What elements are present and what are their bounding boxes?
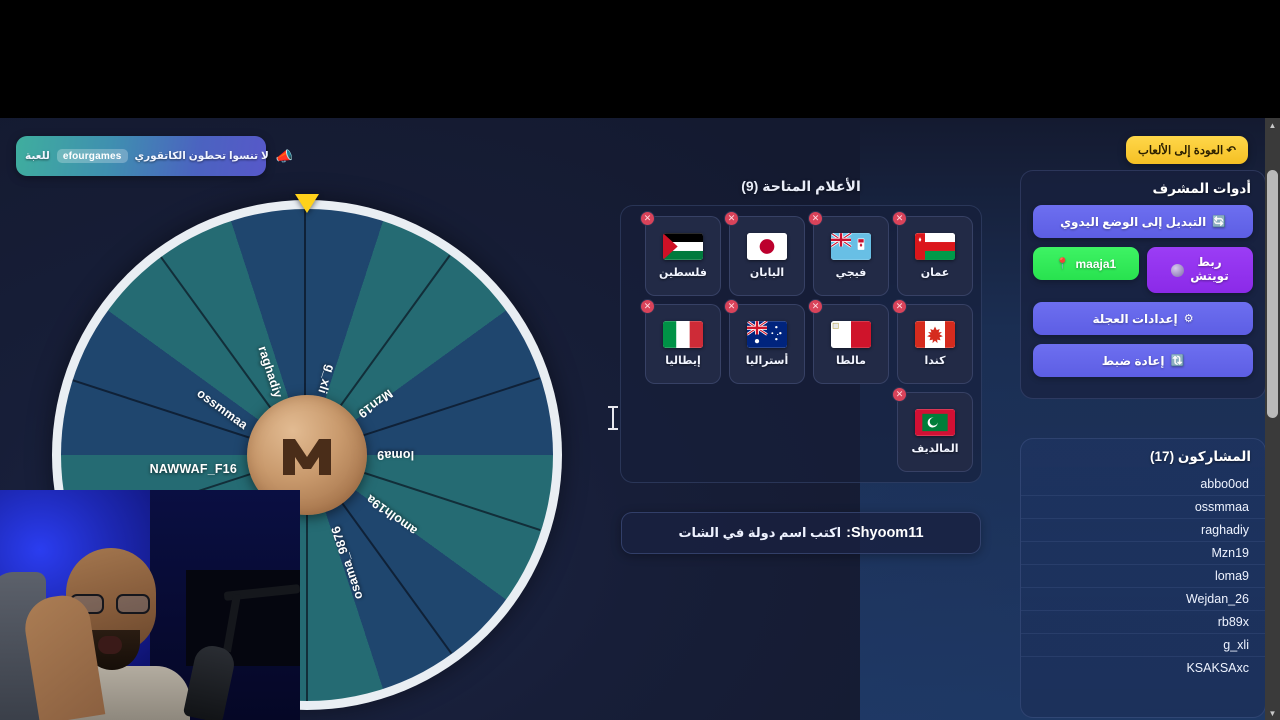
twitch-link-button[interactable]: ربط تويتش <box>1147 247 1253 293</box>
participant-row[interactable]: ossmmaa <box>1021 495 1265 518</box>
wheel-segment-label: g_xli <box>315 363 337 395</box>
flag-name-label: اليابان <box>750 266 784 279</box>
participants-panel: المشاركون (17) abbo0odossmmaaraghadiyMzn… <box>1020 438 1266 718</box>
flag-name-label: المالديف <box>911 442 958 455</box>
pin-icon: 📍 <box>1056 257 1070 270</box>
close-icon[interactable]: ✕ <box>892 299 907 314</box>
wheel-segment-label: Mzn19 <box>355 386 395 420</box>
browser-scrollbar[interactable]: ▲ ▼ <box>1265 118 1280 720</box>
prompt-username: Shyoom11: <box>846 525 923 541</box>
participant-row[interactable]: Wejdan_26 <box>1021 587 1265 610</box>
manual-mode-button[interactable]: 🔄 التبديل إلى الوضع اليدوي <box>1033 205 1253 238</box>
webcam-streamer-mouth <box>98 636 122 654</box>
back-to-games-button[interactable]: ↶ العودة إلى الألعاب <box>1126 136 1248 164</box>
account-button[interactable]: maaja1 📍 <box>1033 247 1139 280</box>
flags-grid: ✕عمان✕فيجي✕اليابان✕فلسطين✕كندا✕مالطا✕أست… <box>620 205 982 483</box>
announcement-suffix: للعبة <box>25 150 50 162</box>
flag-card[interactable]: ✕فلسطين <box>645 216 721 296</box>
wheel-segment-label: NAWWAF_F16 <box>150 462 237 476</box>
flags-title: الأعلام المتاحة (9) <box>620 178 982 195</box>
announcement-banner: 📣 لا تنسوا تحطون الكاتقوري efourgames لل… <box>16 136 266 176</box>
twitch-label-line1: ربط <box>1197 256 1221 270</box>
available-flags-section: الأعلام المتاحة (9) ✕عمان✕فيجي✕اليابان✕ف… <box>620 178 982 483</box>
flag-image <box>663 321 703 348</box>
participant-row[interactable]: Mzn19 <box>1021 541 1265 564</box>
flag-image <box>915 321 955 348</box>
flag-image <box>831 321 871 348</box>
reset-button[interactable]: 🔃 إعادة ضبط <box>1033 344 1253 377</box>
refresh-icon: 🔃 <box>1171 354 1185 367</box>
flag-image <box>663 233 703 260</box>
account-label: maaja1 <box>1076 257 1117 271</box>
flag-name-label: كندا <box>925 354 946 367</box>
flag-card[interactable]: ✕المالديف <box>897 392 973 472</box>
text-cursor-icon <box>608 406 618 430</box>
flag-image <box>831 233 871 260</box>
close-icon[interactable]: ✕ <box>892 387 907 402</box>
twitch-label-line2: تويتش <box>1190 270 1228 284</box>
manual-mode-label: التبديل إلى الوضع اليدوي <box>1060 215 1206 229</box>
prompt-instruction: اكتب اسم دولة في الشات <box>678 525 841 541</box>
moderator-tools-title: أدوات المشرف <box>1021 171 1265 205</box>
megaphone-icon: 📣 <box>276 149 293 163</box>
flag-name-label: فلسطين <box>659 266 707 279</box>
flag-image <box>747 321 787 348</box>
participant-row[interactable]: rb89x <box>1021 610 1265 633</box>
letterbox-top <box>0 0 1280 118</box>
participants-title: المشاركون (17) <box>1021 439 1265 473</box>
participant-row[interactable]: raghadiy <box>1021 518 1265 541</box>
wheel-segment-label: amolh19a <box>364 492 420 538</box>
flag-name-label: مالطا <box>836 354 866 367</box>
flag-name-label: إيطاليا <box>665 354 701 367</box>
m-logo-icon <box>271 419 343 491</box>
back-to-games-label: العودة إلى الألعاب <box>1138 145 1223 157</box>
participant-row[interactable]: g_xli <box>1021 633 1265 656</box>
flag-image <box>915 233 955 260</box>
participant-row[interactable]: loma9 <box>1021 564 1265 587</box>
flag-card[interactable]: ✕عمان <box>897 216 973 296</box>
scrollbar-thumb[interactable] <box>1267 170 1278 418</box>
wheel-segment-label: loma9 <box>377 448 414 462</box>
announcement-category-chip: efourgames <box>57 149 128 163</box>
flag-card[interactable]: ✕اليابان <box>729 216 805 296</box>
gear-icon: ⚙ <box>1184 312 1194 325</box>
twitch-orb-icon <box>1171 264 1184 277</box>
wheel-segment-label: osama_9876 <box>329 524 366 601</box>
flag-name-label: فيجي <box>836 266 867 279</box>
webcam-overlay <box>0 490 300 720</box>
participant-row[interactable]: abbo0od <box>1021 473 1265 495</box>
flag-name-label: عمان <box>921 266 949 279</box>
scroll-down-arrow-icon[interactable]: ▼ <box>1265 706 1280 720</box>
reset-label: إعادة ضبط <box>1102 354 1165 368</box>
participant-row[interactable]: KSAKSAxc <box>1021 656 1265 679</box>
chat-prompt-bar: Shyoom11: اكتب اسم دولة في الشات <box>621 512 981 554</box>
flag-card[interactable]: ✕كندا <box>897 304 973 384</box>
wheel-segment-label: ossmmaa <box>194 386 250 432</box>
wheel-settings-button[interactable]: ⚙ إعدادات العجلة <box>1033 302 1253 335</box>
participants-list[interactable]: abbo0odossmmaaraghadiyMzn19loma9Wejdan_2… <box>1021 473 1265 679</box>
screen-root: 📣 لا تنسوا تحطون الكاتقوري efourgames لل… <box>0 0 1280 720</box>
flag-card[interactable]: ✕أستراليا <box>729 304 805 384</box>
scroll-up-arrow-icon[interactable]: ▲ <box>1265 118 1280 132</box>
flag-card[interactable]: ✕مالطا <box>813 304 889 384</box>
back-arrow-icon: ↶ <box>1226 145 1236 157</box>
flag-name-label: أستراليا <box>746 354 788 367</box>
flag-image <box>915 409 955 436</box>
close-icon[interactable]: ✕ <box>808 211 823 226</box>
close-icon[interactable]: ✕ <box>724 211 739 226</box>
close-icon[interactable]: ✕ <box>808 299 823 314</box>
close-icon[interactable]: ✕ <box>640 299 655 314</box>
close-icon[interactable]: ✕ <box>724 299 739 314</box>
flag-card[interactable]: ✕إيطاليا <box>645 304 721 384</box>
flag-card[interactable]: ✕فيجي <box>813 216 889 296</box>
close-icon[interactable]: ✕ <box>640 211 655 226</box>
moderator-tools-panel: أدوات المشرف 🔄 التبديل إلى الوضع اليدوي … <box>1020 170 1266 399</box>
announcement-prefix: لا تنسوا تحطون الكاتقوري <box>135 150 269 162</box>
flag-image <box>747 233 787 260</box>
account-twitch-row: ربط تويتش maaja1 📍 <box>1033 247 1253 293</box>
wheel-settings-label: إعدادات العجلة <box>1092 312 1177 326</box>
wheel-pointer-icon <box>295 194 319 213</box>
toggle-icon: 🔄 <box>1212 215 1226 228</box>
close-icon[interactable]: ✕ <box>892 211 907 226</box>
